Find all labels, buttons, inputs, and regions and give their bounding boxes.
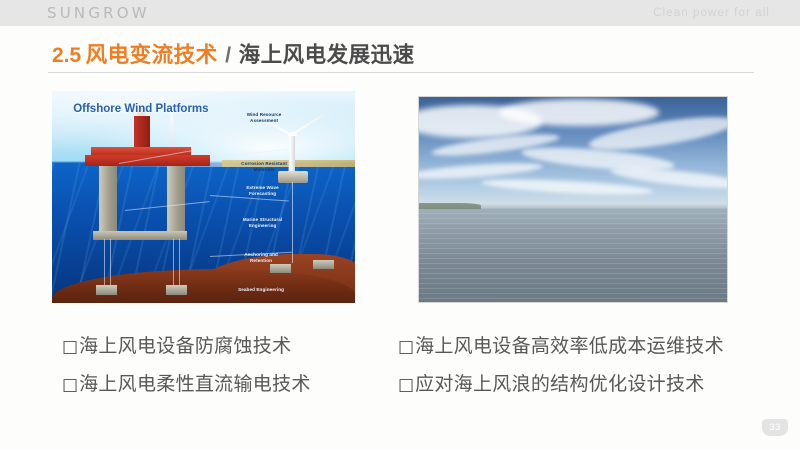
diagram-label-wind-resource-assessment: Wind Resource Assessment: [210, 112, 319, 124]
list-item: □ 海上风电柔性直流输电技术: [62, 372, 311, 398]
diagram-tendon: [179, 239, 180, 288]
title-separator: /: [222, 43, 234, 67]
diagram-label-seabed-engineering: Seabed Engineering: [204, 287, 319, 293]
diagram-anchor: [270, 264, 291, 274]
photo-turbine-blade: [419, 97, 420, 98]
square-bullet-icon: □: [62, 334, 78, 360]
figure-offshore-platform-diagram: Offshore Wind Platforms Wind Resource As…: [52, 91, 355, 303]
figure-offshore-windfarm-photo: [418, 96, 728, 303]
diagram-anchor: [96, 285, 117, 295]
list-item: □ 应对海上风浪的结构优化设计技术: [398, 372, 724, 398]
photo-turbine-blade: [418, 97, 419, 98]
diagram-tendon: [104, 239, 105, 288]
diagram-tendon: [173, 239, 174, 288]
photo-turbine-blade: [419, 97, 420, 98]
title-divider: [48, 72, 754, 73]
slide-root: SUNGROW Clean power for all 2.5 风电变流技术 /…: [0, 0, 800, 450]
photo-turbine-blade: [419, 97, 420, 98]
bullet-column-right: □ 海上风电设备高效率低成本运维技术 □ 应对海上风浪的结构优化设计技术: [398, 334, 724, 410]
square-bullet-icon: □: [398, 372, 414, 398]
photo-sea-shimmer: [419, 208, 727, 302]
diagram-anchor: [166, 285, 187, 295]
photo-turbine-blade: [419, 97, 420, 98]
diagram-label-marine-structural-engineering: Marine Structural Engineering: [207, 217, 319, 229]
diagram-canvas: Offshore Wind Platforms Wind Resource As…: [52, 91, 355, 303]
diagram-label-extreme-wave-forecasting: Extreme Wave Forecasting: [210, 185, 316, 197]
diagram-platform-leg-b: [167, 166, 185, 234]
bullet-label: 海上风电设备防腐蚀技术: [79, 334, 291, 360]
diagram-caption-title: Offshore Wind Platforms: [73, 102, 208, 116]
photo-cloud: [499, 99, 659, 126]
title-sub-text: 海上风电发展迅速: [239, 43, 415, 67]
brand-tagline: Clean power for all: [653, 7, 770, 20]
title-main-text: 风电变流技术: [86, 43, 218, 67]
bullet-label: 海上风电设备高效率低成本运维技术: [415, 334, 724, 360]
diagram-tendon: [110, 239, 111, 288]
bullet-column-left: □ 海上风电设备防腐蚀技术 □ 海上风电柔性直流输电技术: [62, 334, 311, 410]
title-number: 2.5: [52, 44, 81, 67]
photo-cloud: [418, 160, 542, 182]
list-item: □ 海上风电设备防腐蚀技术: [62, 334, 311, 360]
sungrow-logo: SUNGROW: [47, 5, 150, 21]
bullet-label: 应对海上风浪的结构优化设计技术: [415, 372, 705, 398]
diagram-anchor: [313, 260, 334, 270]
bullet-label: 海上风电柔性直流输电技术: [79, 372, 311, 398]
page-number-badge: 33: [762, 419, 788, 436]
list-item: □ 海上风电设备高效率低成本运维技术: [398, 334, 724, 360]
square-bullet-icon: □: [398, 334, 414, 360]
photo-canvas: [419, 97, 727, 302]
photo-turbine-blade: [419, 97, 420, 98]
diagram-label-corrosion-resistant-materials: Corrosion Resistant Materials: [207, 161, 322, 173]
diagram-platform-leg-a: [99, 166, 117, 234]
square-bullet-icon: □: [62, 372, 78, 398]
photo-shoreline: [419, 203, 481, 209]
slide-title: 2.5 风电变流技术 / 海上风电发展迅速: [52, 38, 415, 69]
diagram-platform-deck: [85, 155, 209, 167]
diagram-label-anchoring-and-retention: Anchoring and Retention: [210, 252, 313, 264]
photo-cloud: [480, 177, 653, 198]
